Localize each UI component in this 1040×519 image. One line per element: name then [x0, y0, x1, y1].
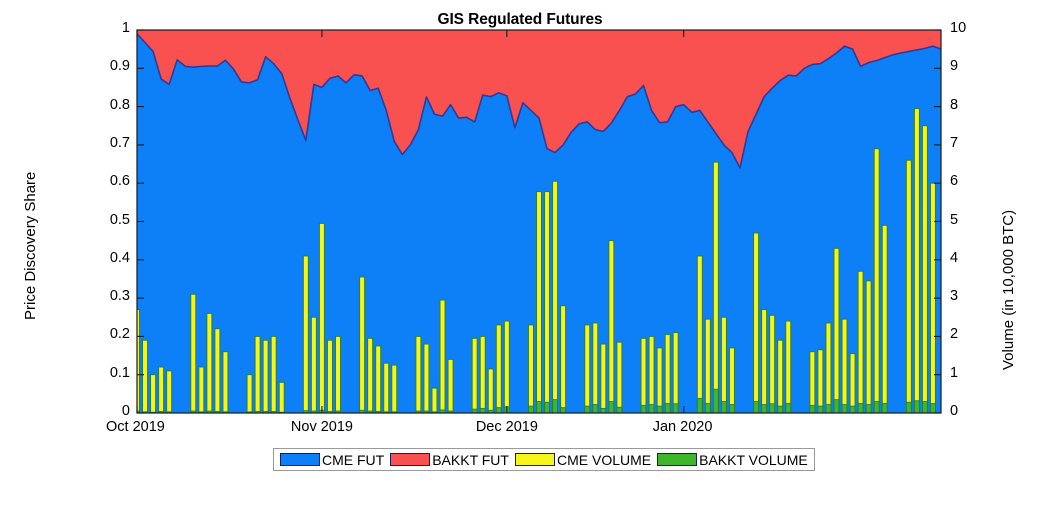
legend-swatch-cme-fut [280, 453, 320, 466]
bar-bakkt-volume [882, 403, 887, 413]
bar-cme-volume [665, 334, 670, 413]
y-axis-left-tick-label: 0.6 [60, 173, 130, 189]
bar-cme-volume [922, 126, 927, 413]
bar-cme-volume [874, 149, 879, 413]
bar-cme-volume [247, 375, 252, 413]
y-axis-right-tick-label: 8 [950, 97, 958, 113]
bar-bakkt-volume [480, 408, 485, 413]
bar-cme-volume [416, 336, 421, 413]
bar-cme-volume [673, 333, 678, 413]
bar-cme-volume [360, 277, 365, 413]
bar-cme-volume [649, 336, 654, 413]
bar-cme-volume [754, 233, 759, 413]
bar-cme-volume [392, 365, 397, 413]
chart-plot-area [0, 0, 1040, 519]
bar-cme-volume [311, 317, 316, 413]
bar-cme-volume [368, 338, 373, 413]
bar-cme-volume [697, 256, 702, 413]
bar-bakkt-volume [537, 402, 542, 413]
bar-cme-volume [376, 346, 381, 413]
bar-cme-volume [858, 271, 863, 413]
bar-cme-volume [303, 256, 308, 413]
bar-bakkt-volume [930, 403, 935, 413]
bar-bakkt-volume [697, 398, 702, 413]
y-axis-right-tick-label: 9 [950, 58, 958, 74]
y-axis-left-tick-label: 0.4 [60, 250, 130, 266]
bar-bakkt-volume [657, 406, 662, 413]
bar-cme-volume [818, 350, 823, 413]
bar-cme-volume [834, 248, 839, 413]
bar-cme-volume [480, 336, 485, 413]
bar-cme-volume [199, 367, 204, 413]
y-axis-right-tick-label: 7 [950, 135, 958, 151]
bar-cme-volume [617, 342, 622, 413]
bar-cme-volume [729, 348, 734, 413]
bar-cme-volume [327, 340, 332, 413]
bar-cme-volume [561, 306, 566, 413]
bar-bakkt-volume [585, 406, 590, 413]
bar-bakkt-volume [601, 408, 606, 413]
bar-cme-volume [504, 321, 509, 413]
y-axis-right-tick-label: 2 [950, 326, 958, 342]
y-axis-left-tick-label: 0.1 [60, 365, 130, 381]
bar-bakkt-volume [665, 403, 670, 413]
bar-cme-volume [713, 162, 718, 413]
y-axis-left-tick-label: 0.5 [60, 212, 130, 228]
bar-cme-volume [657, 348, 662, 413]
bar-bakkt-volume [593, 405, 598, 413]
legend-swatch-bakkt-volume [657, 453, 697, 466]
y-axis-left-tick-label: 1 [60, 20, 130, 36]
bar-cme-volume [770, 315, 775, 413]
bar-cme-volume [641, 338, 646, 413]
legend-entry[interactable]: CME VOLUME [515, 452, 651, 468]
y-axis-right-tick-label: 6 [950, 173, 958, 189]
bar-bakkt-volume [922, 402, 927, 413]
bar-cme-volume [786, 321, 791, 413]
x-axis-tick-label: Oct 2019 [106, 419, 165, 435]
bar-cme-volume [191, 294, 196, 413]
bar-cme-volume [553, 181, 558, 413]
legend-label: BAKKT FUT [432, 452, 509, 468]
bar-bakkt-volume [762, 405, 767, 413]
bar-cme-volume [601, 344, 606, 413]
bar-bakkt-volume [673, 404, 678, 413]
bar-cme-volume [279, 382, 284, 413]
bar-cme-volume [271, 336, 276, 413]
bar-cme-volume [537, 192, 542, 413]
bar-cme-volume [207, 313, 212, 413]
legend-swatch-bakkt-fut [390, 453, 430, 466]
y-axis-right-tick-label: 5 [950, 212, 958, 228]
y-axis-left-tick-label: 0.2 [60, 326, 130, 342]
bar-bakkt-volume [713, 389, 718, 413]
bar-bakkt-volume [770, 404, 775, 413]
bar-cme-volume [545, 192, 550, 413]
bar-cme-volume [882, 225, 887, 413]
bar-cme-volume [336, 336, 341, 413]
bar-cme-volume [472, 338, 477, 413]
bar-bakkt-volume [609, 402, 614, 413]
bar-cme-volume [223, 352, 228, 413]
y-axis-right-tick-label: 1 [950, 365, 958, 381]
legend-label: CME FUT [322, 452, 384, 468]
legend-entry[interactable]: BAKKT FUT [390, 452, 509, 468]
bar-bakkt-volume [810, 405, 815, 413]
bar-bakkt-volume [649, 405, 654, 413]
bar-cme-volume [319, 223, 324, 413]
bar-bakkt-volume [729, 405, 734, 413]
bar-cme-volume [488, 369, 493, 413]
bar-cme-volume [810, 352, 815, 413]
bar-bakkt-volume [561, 408, 566, 413]
y-axis-left-tick-label: 0.3 [60, 288, 130, 304]
bar-cme-volume [384, 363, 389, 413]
x-axis-tick-label: Nov 2019 [291, 419, 353, 435]
bar-cme-volume [528, 325, 533, 413]
bar-cme-volume [215, 329, 220, 413]
bar-bakkt-volume [786, 403, 791, 413]
figure-canvas: GIS Regulated Futures Price Discovery Sh… [0, 0, 1040, 519]
bar-bakkt-volume [850, 406, 855, 413]
bar-bakkt-volume [617, 407, 622, 413]
bar-cme-volume [448, 359, 453, 413]
bar-cme-volume [609, 241, 614, 413]
y-axis-right-title: Volume (in 10,000 BTC) [1000, 210, 1017, 370]
bar-cme-volume [159, 367, 164, 413]
y-axis-right-tick-label: 3 [950, 288, 958, 304]
bar-cme-volume [914, 109, 919, 413]
y-axis-right-tick-label: 10 [950, 20, 966, 36]
bar-cme-volume [842, 319, 847, 413]
bar-bakkt-volume [545, 402, 550, 413]
bar-bakkt-volume [641, 405, 646, 413]
bar-bakkt-volume [818, 406, 823, 413]
bar-bakkt-volume [834, 400, 839, 413]
legend-entry[interactable]: BAKKT VOLUME [657, 452, 808, 468]
y-axis-right-tick-label: 4 [950, 250, 958, 266]
y-axis-right-tick-label: 0 [950, 403, 958, 419]
bar-bakkt-volume [528, 406, 533, 413]
bar-cme-volume [143, 340, 148, 413]
bar-cme-volume [151, 375, 156, 413]
y-axis-left-tick-label: 0.8 [60, 97, 130, 113]
bar-cme-volume [721, 317, 726, 413]
bar-bakkt-volume [906, 402, 911, 413]
legend-label: CME VOLUME [557, 452, 651, 468]
legend-label: BAKKT VOLUME [699, 452, 808, 468]
bar-cme-volume [424, 344, 429, 413]
bar-bakkt-volume [721, 402, 726, 413]
bar-cme-volume [705, 319, 710, 413]
y-axis-left-tick-label: 0 [60, 403, 130, 419]
bar-bakkt-volume [842, 405, 847, 413]
x-axis-tick-label: Jan 2020 [653, 419, 713, 435]
legend-swatch-cme-volume [515, 453, 555, 466]
bar-cme-volume [826, 323, 831, 413]
bar-cme-volume [778, 340, 783, 413]
x-axis-tick-label: Dec 2019 [476, 419, 538, 435]
bar-cme-volume [263, 340, 268, 413]
bar-cme-volume [255, 336, 260, 413]
bar-cme-volume [167, 371, 172, 413]
bar-bakkt-volume [754, 402, 759, 413]
bar-bakkt-volume [858, 403, 863, 413]
bar-bakkt-volume [874, 402, 879, 413]
bar-bakkt-volume [496, 408, 501, 413]
bar-bakkt-volume [705, 403, 710, 413]
bar-bakkt-volume [914, 401, 919, 413]
bar-cme-volume [432, 388, 437, 413]
bar-cme-volume [906, 160, 911, 413]
bar-bakkt-volume [866, 405, 871, 413]
y-axis-left-title: Price Discovery Share [22, 172, 39, 320]
y-axis-left-tick-label: 0.7 [60, 135, 130, 151]
bar-bakkt-volume [778, 406, 783, 413]
bar-cme-volume [496, 325, 501, 413]
chart-legend: CME FUTBAKKT FUTCME VOLUMEBAKKT VOLUME [273, 448, 815, 471]
bar-cme-volume [593, 323, 598, 413]
bar-cme-volume [440, 300, 445, 413]
bar-bakkt-volume [826, 405, 831, 413]
bar-cme-volume [585, 325, 590, 413]
bar-cme-volume [866, 281, 871, 413]
bar-cme-volume [850, 354, 855, 413]
bar-cme-volume [762, 310, 767, 413]
bar-bakkt-volume [553, 400, 558, 413]
legend-entry[interactable]: CME FUT [280, 452, 384, 468]
y-axis-left-tick-label: 0.9 [60, 58, 130, 74]
